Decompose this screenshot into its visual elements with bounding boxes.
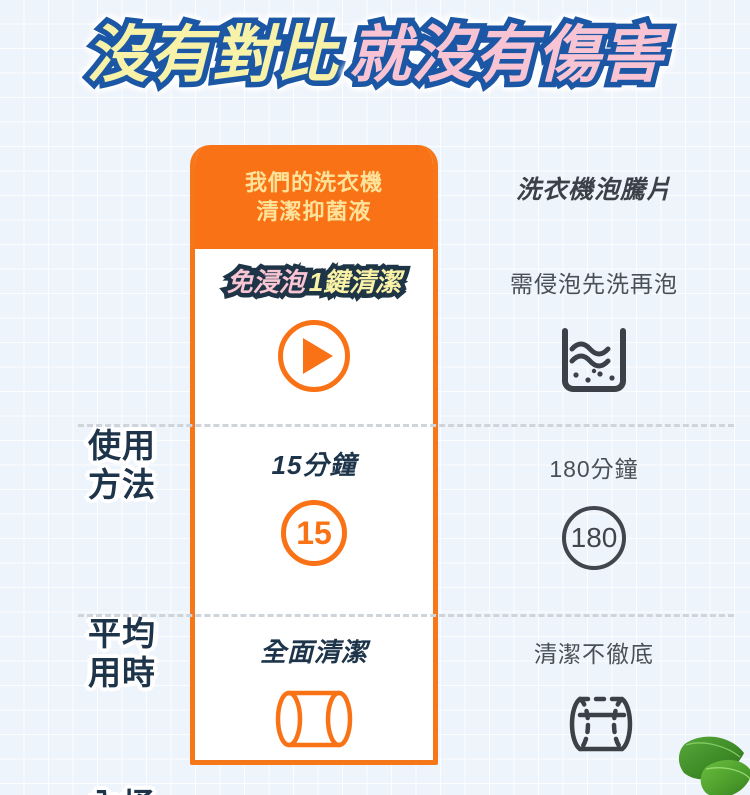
- comparison-table: 我們的洗衣機 清潔抑菌液 洗衣機泡騰片 使用 方法 免浸泡 1鍵清潔 需侵泡: [0, 145, 750, 767]
- product-header-line-1: 我們的洗衣機: [245, 169, 383, 197]
- ours-drum-heading: 全面清潔: [260, 632, 368, 669]
- row-label-usage-method: 使用 方法: [62, 427, 182, 505]
- badge-no-soak: 免浸泡: [227, 267, 305, 298]
- ours-cell-average-time: 15分鐘 15: [190, 445, 438, 613]
- row-label-line-2: 方法: [62, 466, 182, 505]
- row-label-average-time: 平均 用時: [62, 615, 182, 693]
- play-triangle-icon: [303, 338, 333, 374]
- feature-badge-group: 免浸泡 1鍵清潔: [227, 267, 401, 298]
- competitor-header-label: 洗衣機泡騰片: [516, 170, 672, 206]
- washer-drum-icon: [274, 689, 354, 754]
- product-column-header: 我們的洗衣機 清潔抑菌液: [195, 145, 433, 249]
- infographic-page: 沒有對比就沒有傷害 我們的洗衣機 清潔抑菌液 洗衣機泡騰片 使用 方法 免浸泡 …: [0, 0, 750, 795]
- ours-cell-drum-cleaning: 全面清潔: [190, 632, 438, 762]
- page-title: 沒有對比就沒有傷害: [0, 22, 750, 90]
- competitor-time-value: 180: [571, 522, 618, 554]
- theirs-cell-usage-method: 需侵泡先洗再泡: [438, 265, 750, 402]
- play-circle-icon: [278, 320, 350, 392]
- row-label-line-1: 使用: [62, 427, 182, 466]
- time-circle-icon: 15: [281, 500, 347, 566]
- row-divider: [78, 614, 734, 617]
- washer-drum-dashed-icon: [554, 693, 634, 760]
- row-label-drum-cleaning: 內桶 清潔: [62, 787, 182, 795]
- time-circle-icon: 180: [562, 506, 626, 570]
- ours-cell-usage-method: 免浸泡 1鍵清潔: [190, 263, 438, 423]
- page-title-first-half: 沒有對比: [86, 22, 338, 90]
- row-label-line-1: 內桶: [62, 787, 182, 795]
- competitor-time-text: 180分鐘: [549, 450, 638, 484]
- product-header-line-2: 清潔抑菌液: [256, 198, 371, 226]
- soaking-basin-icon: [557, 325, 631, 402]
- theirs-cell-drum-cleaning: 清潔不徹底: [438, 635, 750, 760]
- page-title-second-half: 就沒有傷害: [349, 22, 664, 90]
- competitor-usage-text: 需侵泡先洗再泡: [510, 265, 678, 299]
- ours-time-heading: 15分鐘: [272, 445, 357, 482]
- row-divider: [78, 424, 734, 427]
- row-label-line-2: 用時: [62, 654, 182, 693]
- ours-time-value: 15: [296, 515, 332, 552]
- row-label-line-1: 平均: [62, 615, 182, 654]
- competitor-drum-text: 清潔不徹底: [534, 635, 654, 669]
- competitor-column-header: 洗衣機泡騰片: [438, 170, 750, 206]
- theirs-cell-average-time: 180分鐘 180: [438, 450, 750, 570]
- badge-one-touch-clean: 1鍵清潔: [309, 267, 401, 298]
